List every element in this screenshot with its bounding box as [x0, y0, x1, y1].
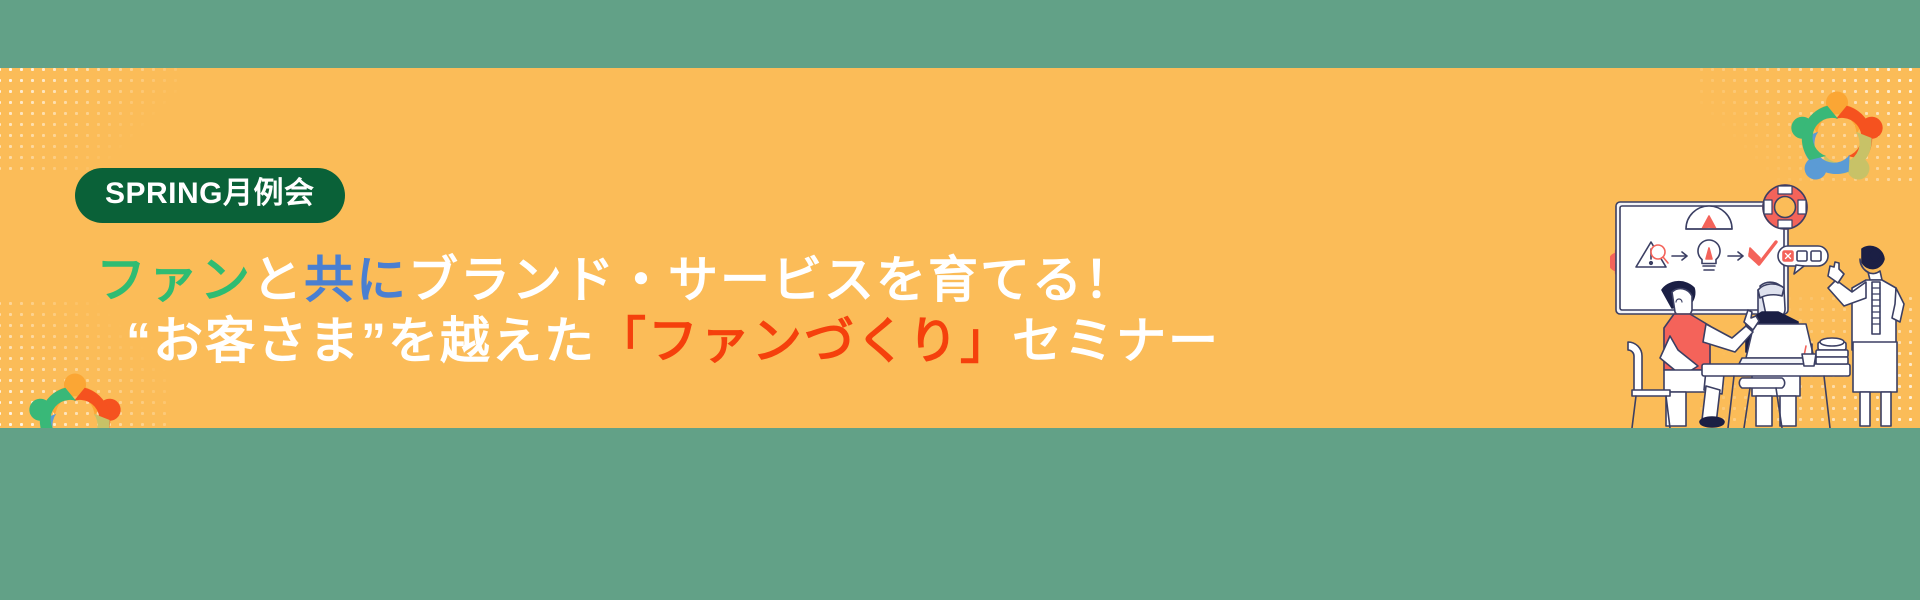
headline-seg-okyakusama: “お客さま”を越えた: [126, 313, 596, 369]
headline-seg-fanzukuri: 「ファンづくり」: [596, 313, 1012, 369]
seminar-banner: SPRING月例会 ファンと共にブランド・サービスを育てる！ “お客さま”を越え…: [0, 0, 1920, 600]
life-ring-icon: [1763, 185, 1807, 229]
page-title: ファンと共にブランド・サービスを育てる！ “お客さま”を越えた「ファンづくり」セ…: [96, 250, 1220, 372]
meeting-whiteboard-illustration: [1610, 164, 1910, 428]
headline-line-1: ファンと共にブランド・サービスを育てる！: [96, 250, 1220, 311]
headline-seg-fan: ファン: [96, 252, 252, 308]
headline-seg-to: と: [252, 252, 304, 308]
headline-seg-seminar: セミナー: [1012, 313, 1220, 369]
dot-pattern-top-left: [0, 68, 184, 172]
books-stack: [1816, 338, 1848, 364]
headline-seg-brand: ブランド・サービスを育てる！: [408, 252, 1136, 308]
person-presenter: [1828, 246, 1904, 426]
banner-main-panel: SPRING月例会 ファンと共にブランド・サービスを育てる！ “お客さま”を越え…: [0, 68, 1920, 428]
event-series-badge: SPRING月例会: [75, 168, 345, 223]
illustration-svg: [1610, 164, 1910, 428]
headline-seg-tomoni: 共に: [304, 252, 408, 308]
headline-line-2: “お客さま”を越えた「ファンづくり」セミナー: [96, 311, 1220, 372]
